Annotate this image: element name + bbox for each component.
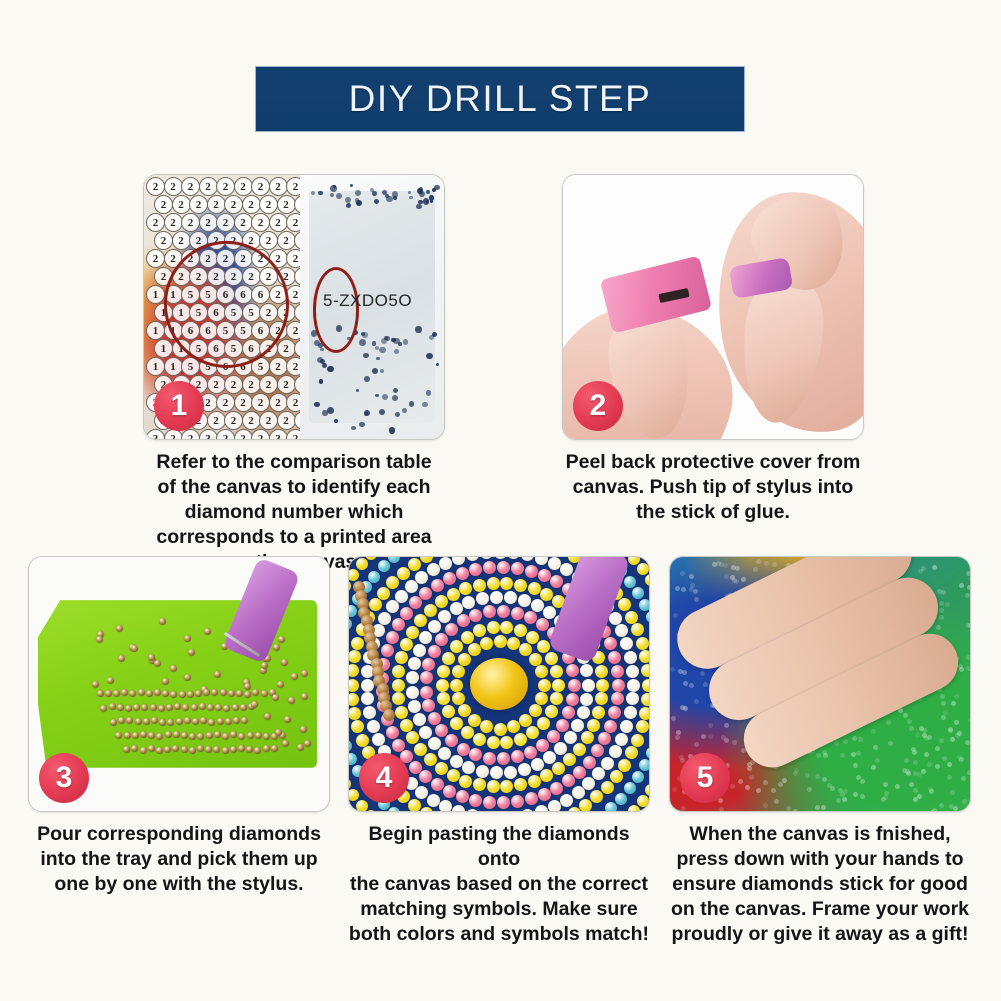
canvas-number-dot: 2: [259, 195, 278, 214]
mandala-bead: [349, 664, 359, 677]
mandala-bead: [563, 753, 576, 766]
tray-diamond: [124, 732, 131, 739]
mandala-bead: [637, 563, 649, 575]
canvas-diamond-speck: [679, 755, 684, 760]
mandala-bead: [452, 665, 465, 678]
mandala-bead: [535, 557, 548, 565]
mandala-bead: [624, 651, 637, 664]
tray-diamond: [206, 732, 213, 739]
mandala-bead: [349, 679, 359, 692]
step-number-badge-5: 5: [680, 753, 730, 803]
tray-diamond: [92, 681, 99, 688]
mandala-bead: [611, 665, 624, 678]
mandala-bead: [452, 805, 465, 811]
canvas-number-dot: 2: [251, 393, 270, 412]
canvas-number-dot: 2: [207, 411, 226, 430]
mandala-bead: [573, 743, 586, 756]
mandala-bead: [480, 637, 493, 650]
mandala-bead: [395, 706, 408, 719]
mandala-bead: [349, 753, 357, 765]
canvas-number-dot: 1: [154, 339, 173, 358]
canvas-diamond-speck: [949, 804, 954, 809]
mandala-bead: [645, 574, 649, 586]
canvas-number-dot: 2: [207, 375, 226, 394]
canvas-diamond-speck: [950, 790, 955, 795]
canvas-diamond-speck: [932, 808, 937, 811]
mandala-bead: [487, 621, 500, 634]
mandala-bead: [452, 557, 465, 565]
mandala-bead: [445, 734, 458, 747]
tray-diamond: [273, 644, 280, 651]
mandala-bead: [528, 582, 541, 595]
step-3-photo: 3: [28, 556, 330, 812]
drill-grain: [432, 188, 436, 192]
mandala-bead: [356, 558, 368, 570]
mandala-bead: [507, 637, 520, 650]
mandala-bead: [388, 557, 400, 563]
mandala-bead: [413, 644, 426, 657]
tray-diamond: [188, 649, 195, 656]
canvas-diamond-speck: [941, 590, 946, 595]
tray-diamond: [176, 718, 183, 725]
mandala-bead: [442, 652, 455, 665]
drill-grain: [382, 394, 388, 400]
canvas-diamond-speck: [676, 730, 681, 735]
mandala-bead: [466, 557, 479, 561]
mandala-bead: [392, 679, 405, 692]
drill-grain: [318, 191, 322, 195]
mandala-bead: [601, 781, 614, 794]
mandala-bead: [431, 778, 444, 791]
mandala-bead: [361, 692, 374, 705]
mandala-bead: [592, 767, 605, 780]
mandala-bead: [409, 596, 422, 609]
stylus-4: [547, 557, 630, 663]
canvas-number-dot: 2: [242, 195, 261, 214]
mandala-bead: [388, 807, 400, 811]
mandala-bead: [540, 769, 553, 782]
mandala-bead: [351, 720, 364, 733]
mandala-bead: [511, 607, 524, 620]
tray-diamond: [170, 665, 177, 672]
tray-diamond: [184, 674, 191, 681]
canvas-number-dot: 3: [199, 429, 218, 440]
mandala-bead: [437, 692, 450, 705]
canvas-number-dot: 2: [277, 375, 296, 394]
mandala-bead: [591, 744, 604, 757]
canvas-number-dot: 2: [242, 375, 261, 394]
canvas-number-dot: 2: [251, 177, 270, 196]
tray-diamond: [156, 747, 163, 754]
drill-grain: [393, 388, 398, 393]
drill-grain: [327, 366, 333, 372]
canvas-diamond-speck: [961, 776, 966, 781]
drill-grain: [320, 348, 324, 352]
canvas-number-dot: 2: [207, 195, 226, 214]
tray-diamond: [143, 718, 150, 725]
canvas-number-dot: 2: [234, 177, 253, 196]
mandala-bead: [581, 731, 594, 744]
step-card-1: 2222222222222222222222222222222222222222…: [143, 174, 445, 575]
mandala-bead: [473, 733, 486, 746]
canvas-diamond-speck: [947, 775, 952, 780]
mandala-bead: [473, 579, 486, 592]
step-2-caption: Peel back protective cover from canvas. …: [562, 450, 864, 525]
step-2-photo: 2: [562, 174, 864, 440]
canvas-number-dot: 2: [172, 195, 191, 214]
mandala-bead: [618, 598, 631, 611]
mandala-bead: [604, 720, 617, 733]
canvas-diamond-speck: [953, 806, 958, 811]
mandala-bead: [615, 733, 628, 746]
tray-diamond: [138, 689, 145, 696]
drill-grain: [374, 199, 379, 204]
canvas-number-dot: 2: [277, 339, 296, 358]
mandala-bead: [548, 800, 561, 811]
bag-code-label: 5-ZXDO5O: [323, 291, 412, 311]
mandala-bead: [381, 644, 394, 657]
mandala-bead: [406, 626, 419, 639]
tray-diamond: [189, 733, 196, 740]
mandala-bead: [562, 774, 575, 787]
mandala-bead: [582, 679, 595, 692]
tray-diamond: [187, 691, 194, 698]
mandala-bead: [435, 762, 448, 775]
tray-diamond: [189, 747, 196, 754]
mandala-bead: [427, 794, 440, 807]
mandala-bead: [450, 755, 463, 768]
canvas-number-dot: 2: [164, 213, 183, 232]
tray-diamond: [140, 747, 147, 754]
mandala-bead: [435, 595, 448, 608]
mandala-bead: [500, 577, 513, 590]
canvas-number-dot: 2: [216, 393, 235, 412]
mandala-bead: [439, 557, 452, 570]
canvas-number-dot: 2: [224, 375, 243, 394]
tray-diamond: [154, 689, 161, 696]
tray-diamond: [156, 733, 163, 740]
mandala-bead: [529, 704, 542, 717]
mandala-bead: [566, 693, 579, 706]
mandala-bead: [428, 737, 441, 750]
canvas-diamond-speck: [671, 716, 676, 721]
mandala-bead: [480, 720, 493, 733]
protective-cover: [600, 256, 712, 334]
mandala-bead: [436, 679, 449, 692]
tray-diamond: [240, 704, 247, 711]
tray-diamond: [117, 704, 124, 711]
mandala-bead: [626, 692, 639, 705]
tray-diamond: [97, 690, 104, 697]
tray-diamond: [222, 747, 229, 754]
canvas-number-dot: 1: [164, 357, 183, 376]
step-card-2: 2 Peel back protective cover from canvas…: [562, 174, 864, 525]
tray-diamond: [191, 704, 198, 711]
mandala-bead: [431, 579, 444, 592]
mandala-bead: [550, 665, 563, 678]
tray-diamond: [215, 704, 222, 711]
mandala-bead: [408, 700, 421, 713]
mandala-bead: [582, 777, 595, 790]
mandala-bead-accent: [383, 709, 395, 721]
mandala-bead: [361, 679, 374, 692]
tray-diamond: [131, 645, 138, 652]
mandala-bead: [462, 761, 475, 774]
mandala-bead: [639, 650, 649, 663]
mandala-bead: [406, 671, 419, 684]
mandala-bead: [392, 692, 405, 705]
mandala-bead: [487, 577, 500, 590]
drill-grain: [393, 338, 399, 344]
drill-grain: [355, 190, 361, 196]
drill-grain: [372, 341, 376, 345]
mandala-bead: [473, 624, 486, 637]
mandala-bead: [500, 780, 513, 793]
mandala-bead: [349, 569, 359, 581]
canvas-number-dot: 2: [146, 177, 165, 196]
mandala-bead: [456, 567, 469, 580]
mandala-bead: [392, 618, 405, 631]
canvas-number-dot: 2: [259, 231, 278, 250]
tray-diamond: [291, 673, 298, 680]
mandala-bead: [535, 665, 548, 678]
mandala-bead: [507, 720, 520, 733]
canvas-diamond-speck: [694, 742, 699, 747]
mandala-bead: [400, 638, 413, 651]
canvas-number-dot: 3: [146, 429, 165, 440]
mandala-bead: [386, 600, 399, 613]
mandala-bead: [349, 778, 351, 790]
step-card-3: 3 Pour corresponding diamonds into the t…: [28, 556, 330, 897]
tray-diamond: [105, 690, 112, 697]
drill-grain: [416, 204, 422, 210]
mandala-bead: [395, 590, 408, 603]
mandala-bead: [628, 557, 640, 565]
drill-bag-image: 5-ZXDO5O: [300, 175, 444, 439]
mandala-bead: [457, 743, 470, 756]
canvas-number-dot: 2: [277, 195, 296, 214]
tray-diamond: [284, 716, 291, 723]
mandala-bead: [547, 730, 560, 743]
drill-grain: [430, 200, 433, 203]
canvas-diamond-speck: [962, 799, 967, 804]
canvas-number-dot: 2: [216, 213, 235, 232]
mandala-bead: [521, 557, 534, 561]
mandala-bead: [447, 588, 460, 601]
mandala-bead: [641, 664, 649, 677]
mandala-bead: [525, 792, 538, 805]
mandala-bead: [452, 692, 465, 705]
canvas-number-dot: 2: [234, 429, 253, 440]
mandala-bead: [483, 752, 496, 765]
page-title: DIY DRILL STEP: [349, 78, 652, 120]
canvas-number-dot: 2: [164, 177, 183, 196]
canvas-number-dot: 2: [234, 393, 253, 412]
mandala-bead: [562, 706, 575, 719]
mandala-bead: [620, 637, 633, 650]
mandala-bead: [592, 706, 605, 719]
mandala-bead: [639, 599, 649, 611]
canvas-diamond-speck: [672, 787, 677, 792]
mandala-bead: [552, 679, 565, 692]
drill-grain: [372, 191, 377, 196]
mandala-bead: [609, 612, 622, 625]
canvas-number-dot: 2: [199, 177, 218, 196]
canvas-number-dot: 2: [259, 411, 278, 430]
canvas-diamond-speck: [730, 784, 735, 789]
mandala-bead: [420, 671, 433, 684]
mandala-bead: [424, 753, 437, 766]
canvas-number-dot: 2: [181, 429, 200, 440]
mandala-bead: [456, 790, 469, 803]
drill-grain: [350, 184, 353, 187]
mandala-bead: [595, 665, 608, 678]
drill-grain: [403, 339, 409, 345]
mandala-bead: [400, 607, 413, 620]
mandala-bead: [447, 769, 460, 782]
mandala-bead: [511, 750, 524, 763]
mandala-bead: [595, 692, 608, 705]
mandala-bead: [469, 609, 482, 622]
mandala-bead: [349, 605, 357, 617]
mandala-bead: [572, 786, 585, 799]
tray-diamond: [217, 718, 224, 725]
drill-grain: [351, 426, 355, 430]
mandala-bead: [497, 561, 510, 574]
tray-diamond: [288, 697, 295, 704]
canvas-diamond-speck: [670, 667, 675, 672]
mandala-bead: [611, 692, 624, 705]
mandala-bead: [610, 770, 623, 783]
mandala-bead: [377, 587, 390, 600]
step-number-badge-3: 3: [39, 753, 89, 803]
mandala-bead: [349, 650, 361, 663]
mandala-bead: [386, 576, 399, 589]
tray-diamond: [255, 732, 262, 739]
mandala-bead: [500, 621, 513, 634]
mandala-bead: [601, 757, 614, 770]
mandala-bead: [521, 809, 534, 811]
tray-diamond: [204, 628, 211, 635]
tray-diamond: [272, 694, 279, 701]
mandala-bead: [639, 707, 649, 720]
canvas-diamond-speck: [701, 734, 706, 739]
tray-diamond: [110, 719, 117, 726]
tray-diamond: [197, 733, 204, 740]
mandala-bead: [349, 740, 352, 752]
mandala-bead: [524, 611, 537, 624]
tray-diamond: [162, 690, 169, 697]
drill-grain: [409, 401, 414, 406]
mandala-bead: [490, 591, 503, 604]
tray-diamond: [96, 636, 103, 643]
mandala-bead: [538, 569, 551, 582]
mandala-bead: [646, 611, 649, 623]
step-4-photo: 4: [348, 556, 650, 812]
mandala-bead: [608, 651, 621, 664]
mandala-bead: [378, 612, 391, 625]
mandala-bead: [612, 679, 625, 692]
mandala-bead: [531, 599, 544, 612]
mandala-bead: [571, 719, 584, 732]
canvas-diamond-speck: [683, 681, 688, 686]
mandala-bead: [545, 652, 558, 665]
drill-grain: [330, 193, 334, 197]
drill-grain: [395, 412, 400, 417]
tray-diamond: [220, 689, 227, 696]
mandala-bead: [356, 800, 368, 811]
canvas-number-dot: 2: [269, 357, 288, 376]
mandala-bead: [406, 686, 419, 699]
mandala-bead: [419, 587, 432, 600]
mandala-bead: [545, 705, 558, 718]
mandala-bead: [631, 734, 644, 747]
tray-diamond: [228, 690, 235, 697]
mandala-bead: [590, 790, 603, 803]
step-number-badge-2: 2: [573, 381, 623, 431]
drill-grain: [376, 357, 379, 360]
mandala-bead: [349, 693, 359, 706]
mandala-bead: [632, 587, 644, 599]
mandala-bead: [419, 770, 432, 783]
mandala-bead: [598, 732, 611, 745]
mandala-bead: [386, 726, 399, 739]
tray-diamond: [162, 678, 169, 685]
canvas-number-dot: 2: [154, 195, 173, 214]
canvas-diamond-speck: [967, 770, 970, 775]
mandala-bead: [605, 802, 617, 811]
mandala-bead: [435, 633, 448, 646]
mandala-bead: [518, 594, 531, 607]
mandala-bead: [349, 618, 352, 630]
mandala-bead: [608, 706, 621, 719]
tray-diamond: [165, 731, 172, 738]
canvas-number-dot: 2: [269, 213, 288, 232]
canvas-number-dot: 2: [216, 177, 235, 196]
drill-grain: [426, 390, 431, 395]
mandala-bead: [428, 620, 441, 633]
canvas-diamond-speck: [675, 735, 680, 740]
tray-diamond: [107, 677, 114, 684]
drill-grain: [408, 191, 411, 194]
tray-diamond: [222, 733, 229, 740]
mandala-bead: [476, 592, 489, 605]
tray-diamond: [263, 733, 270, 740]
mandala-bead: [356, 734, 369, 747]
canvas-diamond-speck: [708, 734, 713, 739]
mandala-bead: [466, 809, 479, 811]
canvas-diamond-speck: [965, 593, 970, 598]
mandala-bead: [514, 624, 527, 637]
step-5-caption: When the canvas is fnished, press down w…: [669, 822, 971, 947]
mandala-bead: [461, 631, 474, 644]
mandala-bead: [631, 623, 644, 636]
mandala-bead: [524, 746, 537, 759]
center-gem: [470, 658, 528, 710]
canvas-diamond-speck: [969, 576, 970, 581]
mandala-bead: [445, 623, 458, 636]
mandala-bead: [438, 610, 451, 623]
mandala-bead: [408, 799, 421, 811]
mandala-bead: [415, 786, 428, 799]
mandala-bead: [596, 679, 609, 692]
mandala-bead: [409, 761, 422, 774]
step-4-caption: Begin pasting the diamonds onto the canv…: [348, 822, 650, 947]
mandala-bead: [552, 762, 565, 775]
page-title-banner: DIY DRILL STEP: [255, 66, 745, 132]
mandala-bead: [564, 731, 577, 744]
tray-diamond: [214, 731, 221, 738]
